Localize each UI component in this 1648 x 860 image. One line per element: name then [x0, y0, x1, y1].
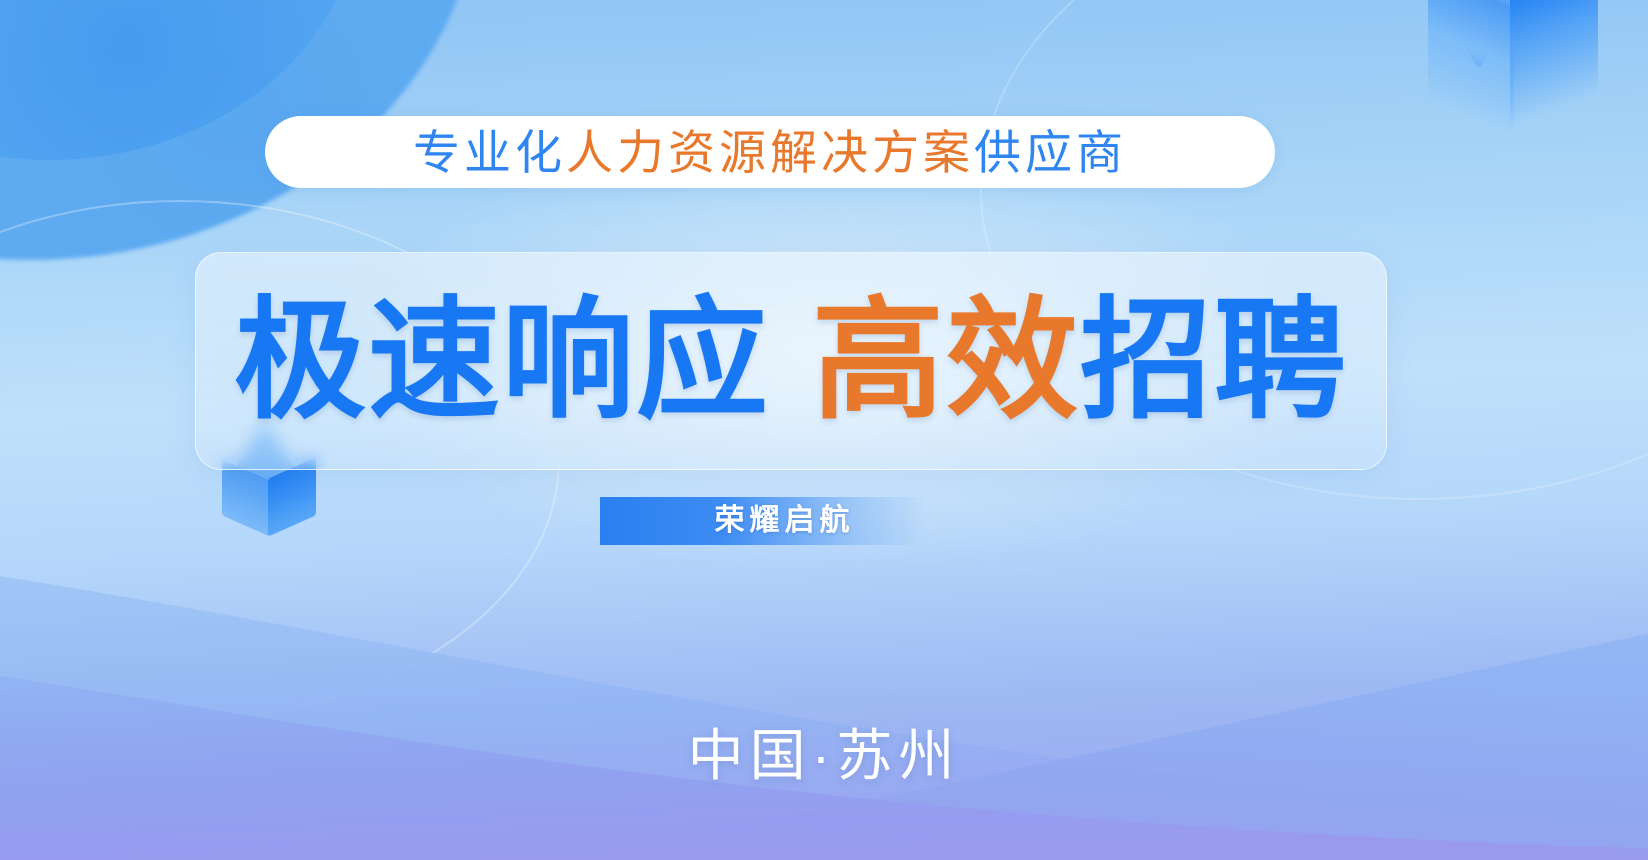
subtitle-text: 专业化人力资源解决方案供应商 [413, 129, 1127, 176]
cube-face-left [1428, 0, 1514, 135]
cube-face-right [1510, 0, 1598, 126]
headline-glass-panel: 极速响应高效招聘 [195, 252, 1387, 470]
headline-segment-3: 招聘 [1080, 284, 1348, 438]
location-label: 中国·苏州 [688, 724, 961, 787]
headline-text: 极速响应高效招聘 [234, 295, 1348, 427]
location-block: 中国·苏州 [0, 728, 1648, 784]
headline-segment-2: 高效 [812, 284, 1080, 438]
cube-3d-icon-top-right [1410, 0, 1620, 146]
subtitle-segment-3: 供应商 [974, 126, 1127, 179]
subtitle-segment-2: 人力资源解决方案 [566, 126, 974, 179]
honor-badge-label: 荣耀启航 [715, 506, 855, 536]
headline-segment-1: 极速响应 [234, 284, 770, 438]
subtitle-segment-1: 专业化 [413, 126, 566, 179]
honor-badge: 荣耀启航 [600, 497, 925, 545]
subtitle-pill: 专业化人力资源解决方案供应商 [265, 116, 1275, 188]
promo-banner: 专业化人力资源解决方案供应商 极速响应高效招聘 荣耀启航 中国·苏州 [0, 0, 1648, 860]
